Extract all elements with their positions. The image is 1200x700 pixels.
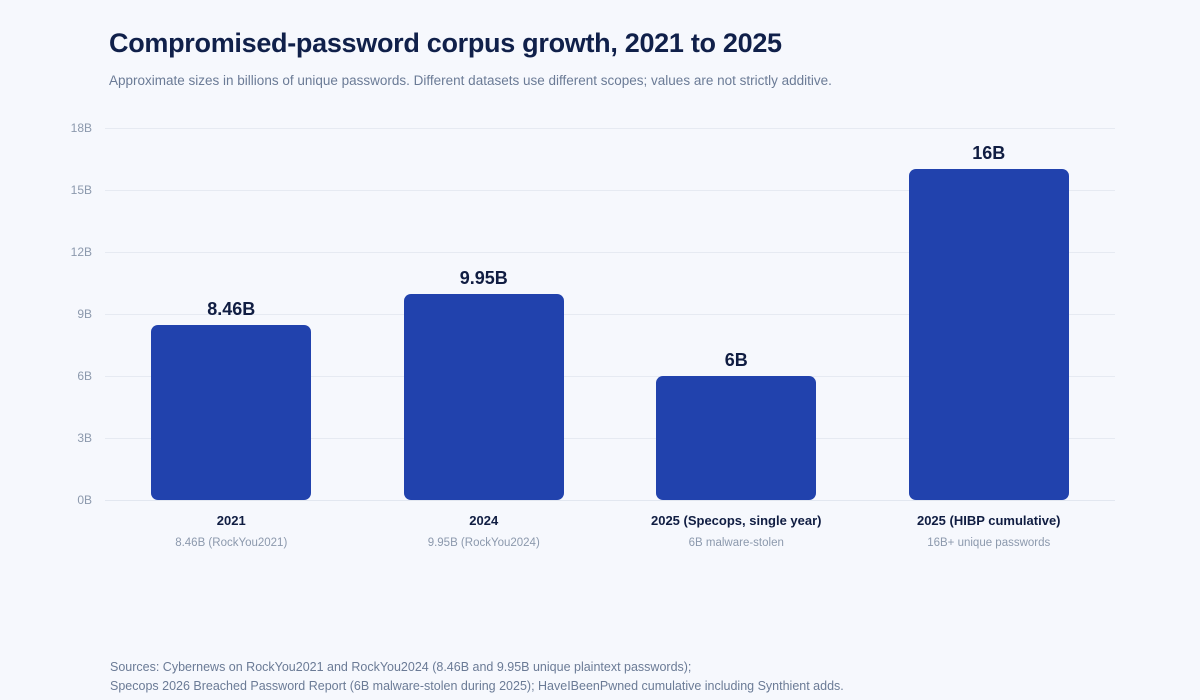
sources-note: Sources: Cybernews on RockYou2021 and Ro…	[110, 658, 844, 696]
x-axis-category-label: 2021	[106, 513, 356, 529]
y-axis-tick-label: 15B	[28, 183, 92, 197]
y-axis-tick-label: 0B	[28, 493, 92, 507]
x-axis-category-sublabel: 9.95B (RockYou2024)	[359, 536, 609, 551]
y-axis: 0B3B6B9B12B15B18B	[0, 0, 1200, 700]
bar[interactable]	[909, 169, 1069, 500]
x-axis-category-label: 2025 (Specops, single year)	[611, 513, 861, 529]
sources-line-1: Sources: Cybernews on RockYou2021 and Ro…	[110, 658, 844, 677]
y-axis-tick-label: 18B	[28, 121, 92, 135]
bar[interactable]	[656, 376, 816, 500]
bar-value-label: 6B	[636, 350, 836, 371]
gridline	[105, 500, 1115, 501]
bar-value-label: 8.46B	[131, 299, 331, 320]
gridline	[105, 314, 1115, 315]
gridlines	[0, 0, 1200, 700]
bars-group: 8.46B20218.46B (RockYou2021)9.95B20249.9…	[0, 0, 1200, 700]
chart-subtitle: Approximate sizes in billions of unique …	[109, 72, 1129, 90]
chart-header: Compromised-password corpus growth, 2021…	[109, 24, 1129, 90]
page-title: Compromised-password corpus growth, 2021…	[109, 24, 1129, 62]
y-axis-tick-label: 3B	[28, 431, 92, 445]
gridline	[105, 190, 1115, 191]
x-axis-category-label: 2025 (HIBP cumulative)	[864, 513, 1114, 529]
bar[interactable]	[404, 294, 564, 500]
gridline	[105, 252, 1115, 253]
gridline	[105, 128, 1115, 129]
gridline	[105, 438, 1115, 439]
plot-area: 0B3B6B9B12B15B18B 8.46B20218.46B (RockYo…	[0, 0, 1200, 700]
y-axis-tick-label: 9B	[28, 307, 92, 321]
bar[interactable]	[151, 325, 311, 500]
y-axis-tick-label: 12B	[28, 245, 92, 259]
y-axis-tick-label: 6B	[28, 369, 92, 383]
x-axis-category-sublabel: 6B malware-stolen	[611, 536, 861, 551]
gridline	[105, 376, 1115, 377]
x-axis-category-sublabel: 16B+ unique passwords	[864, 536, 1114, 551]
x-axis-category-label: 2024	[359, 513, 609, 529]
sources-line-2: Specops 2026 Breached Password Report (6…	[110, 677, 844, 696]
x-axis-category-sublabel: 8.46B (RockYou2021)	[106, 536, 356, 551]
bar-value-label: 9.95B	[384, 268, 584, 289]
bar-value-label: 16B	[889, 143, 1089, 164]
chart-card: Compromised-password corpus growth, 2021…	[0, 0, 1200, 700]
